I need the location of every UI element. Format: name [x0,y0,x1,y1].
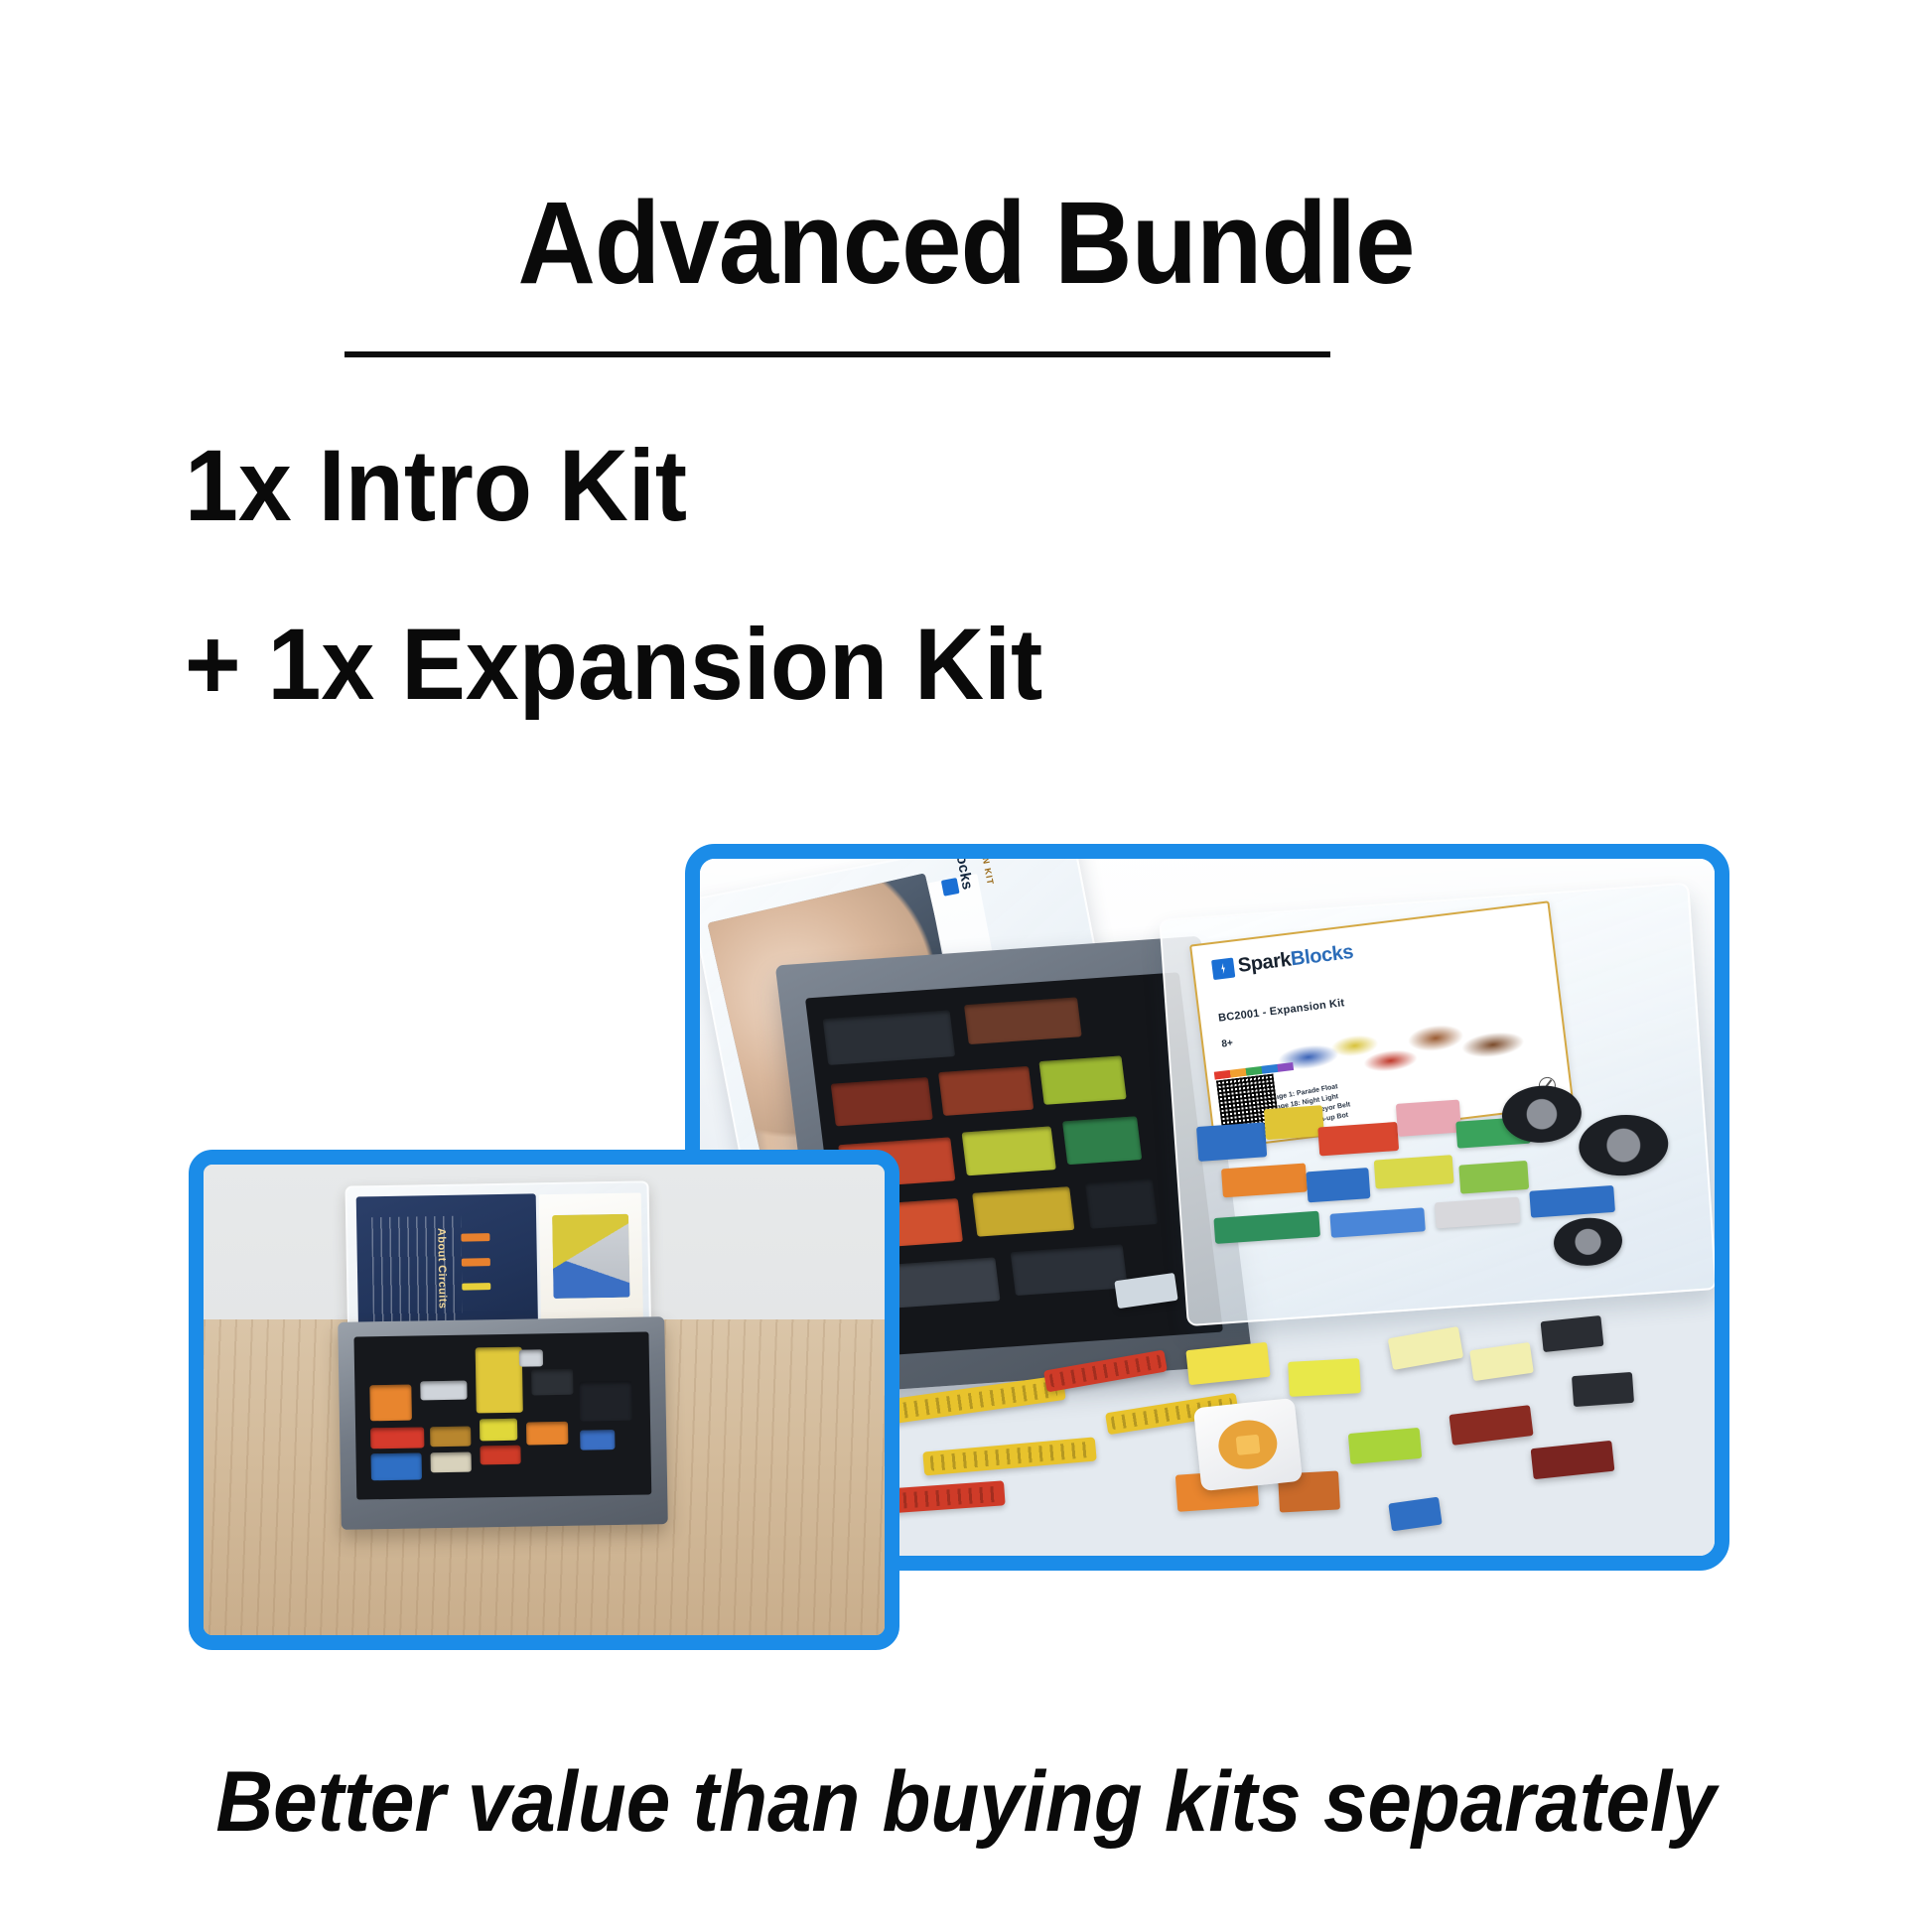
value-tagline: Better value than buying kits separately [68,1759,1864,1845]
bundle-item-expansion-kit: + 1x Expansion Kit [185,614,1599,715]
title-underline-rule [345,351,1330,357]
booklet-heading: About Circuits [435,1228,448,1310]
bundle-item-intro-kit: 1x Intro Kit [185,435,1599,536]
promo-canvas: Advanced Bundle 1x Intro Kit + 1x Expans… [0,0,1932,1932]
remote-control [1193,1397,1303,1490]
intro-kit-photo: About Circuits [189,1150,899,1650]
intro-case-tray [338,1317,668,1530]
remote-dpad-icon [1216,1417,1280,1471]
bundle-contents-list: 1x Intro Kit + 1x Expansion Kit [185,435,1674,715]
manual-model-diagram [552,1214,630,1299]
page-title: Advanced Bundle [77,185,1855,302]
intro-foam-insert [354,1331,651,1500]
booklet-body-text [371,1216,463,1327]
